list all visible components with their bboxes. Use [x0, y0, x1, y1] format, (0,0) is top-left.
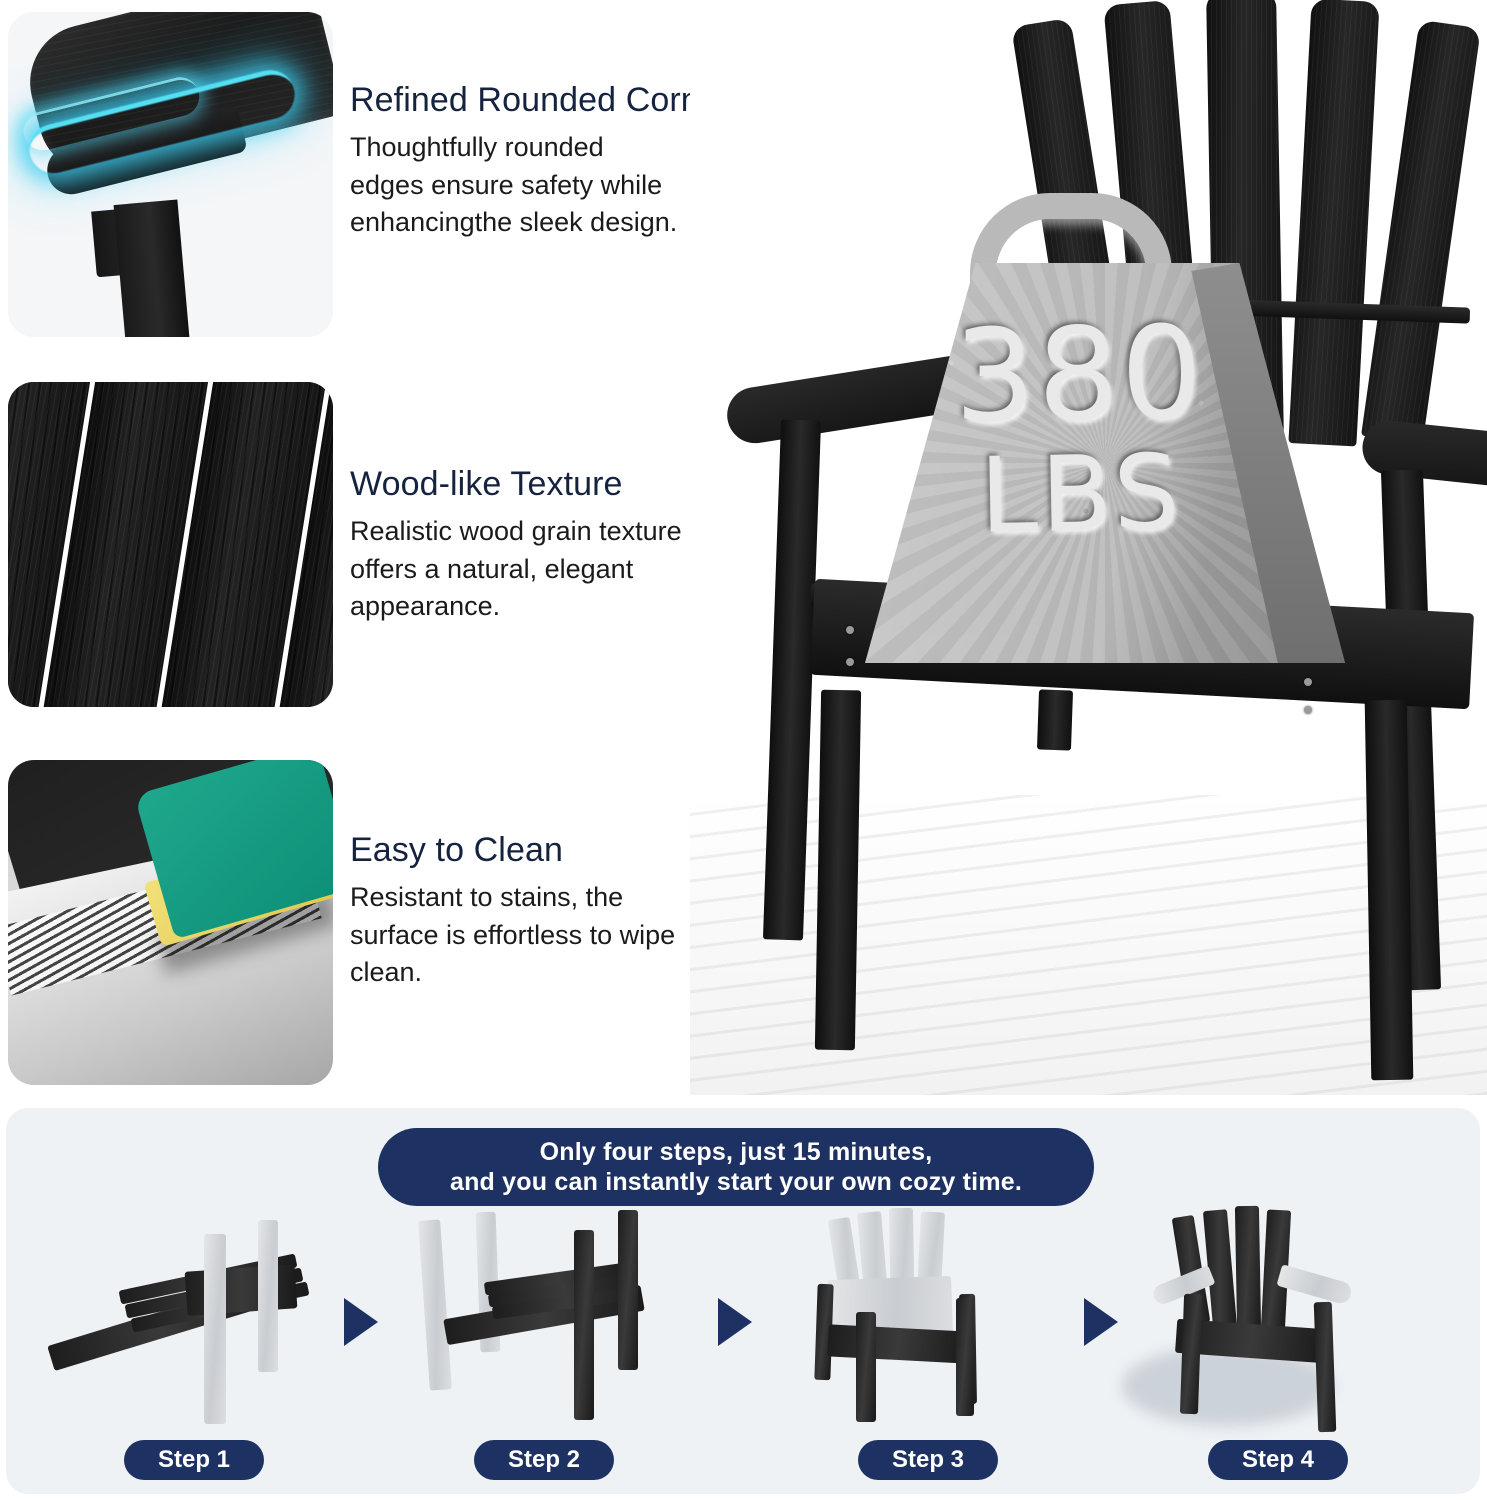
assembly-step-4-diagram [1136, 1220, 1466, 1450]
backrest-slat [1361, 20, 1481, 445]
rear-left-leg [815, 690, 861, 1051]
features-section: Refined Rounded Corners Thoughtfully rou… [0, 0, 1487, 1100]
feature-thumbnail-wood-texture [8, 382, 333, 707]
assembly-step-2-diagram [406, 1220, 736, 1450]
backrest-slat [1235, 1206, 1261, 1330]
feature-description: Thoughtfully rounded edges ensure safety… [350, 129, 680, 241]
feature-title: Easy to Clean [350, 832, 690, 869]
front-leg-dark [956, 1298, 974, 1416]
feature-thumbnail-rounded-corners [8, 12, 333, 337]
leg-part-dark [618, 1210, 638, 1370]
step-3-label: Step 3 [892, 1446, 964, 1474]
cleaning-illustration [8, 760, 333, 1085]
front-right-leg [1314, 1302, 1337, 1433]
feature-description: Realistic wood grain texture offers a na… [350, 513, 695, 625]
seat-side-rail [185, 1264, 298, 1316]
assembly-step-3-diagram [788, 1220, 1118, 1450]
leg-part-light [418, 1219, 452, 1390]
weight-number: 380 [863, 309, 1295, 442]
banner-line-2: and you can instantly start your own coz… [450, 1167, 1022, 1198]
leg-part-light [204, 1234, 226, 1424]
step-1-badge[interactable]: Step 1 [124, 1440, 264, 1480]
feature-thumbnail-easy-to-clean [8, 760, 333, 1085]
rear-right-leg [1365, 700, 1414, 1081]
right-armrest-light [1276, 1264, 1353, 1306]
step-2-badge[interactable]: Step 2 [474, 1440, 614, 1480]
feature-text-block-2: Wood-like Texture Realistic wood grain t… [350, 466, 695, 625]
wood-texture-illustration [8, 382, 333, 707]
armrest-support-post [114, 199, 191, 337]
armrest-illustration [8, 12, 333, 337]
screw [846, 626, 854, 634]
banner-line-1: Only four steps, just 15 minutes, [540, 1137, 933, 1168]
assembly-steps-panel: Only four steps, just 15 minutes, and yo… [6, 1108, 1480, 1494]
feature-title: Wood-like Texture [350, 466, 695, 503]
hero-chair-image: 380 LBS [690, 0, 1487, 1095]
step-2-label: Step 2 [508, 1446, 580, 1474]
assembly-banner: Only four steps, just 15 minutes, and yo… [378, 1128, 1094, 1206]
screw [1304, 706, 1312, 714]
arrow-right-icon [1084, 1298, 1118, 1346]
feature-title: Refined Rounded Corners [350, 82, 747, 119]
step-3-badge[interactable]: Step 3 [858, 1440, 998, 1480]
screw [846, 658, 854, 666]
arrow-right-icon [718, 1298, 752, 1346]
weight-unit: LBS [865, 441, 1297, 550]
feature-text-block-1: Refined Rounded Corners Thoughtfully rou… [350, 82, 747, 241]
front-leg-dark [856, 1312, 876, 1422]
center-support-stub [1037, 689, 1073, 750]
step-4-badge[interactable]: Step 4 [1208, 1440, 1348, 1480]
seat-rail-dark [827, 1324, 968, 1363]
feature-text-block-3: Easy to Clean Resistant to stains, the s… [350, 832, 690, 991]
arrow-right-icon [344, 1298, 378, 1346]
leg-part-light [258, 1220, 278, 1372]
screw [1304, 678, 1312, 686]
step-1-label: Step 1 [158, 1446, 230, 1474]
assembly-step-1-diagram [36, 1220, 366, 1450]
weight-capacity-label: 380 LBS [863, 309, 1297, 550]
step-4-label: Step 4 [1242, 1446, 1314, 1474]
weight-block-380-lbs: 380 LBS [865, 195, 1345, 665]
leg-part-dark [574, 1230, 594, 1420]
feature-description: Resistant to stains, the surface is effo… [350, 879, 690, 991]
